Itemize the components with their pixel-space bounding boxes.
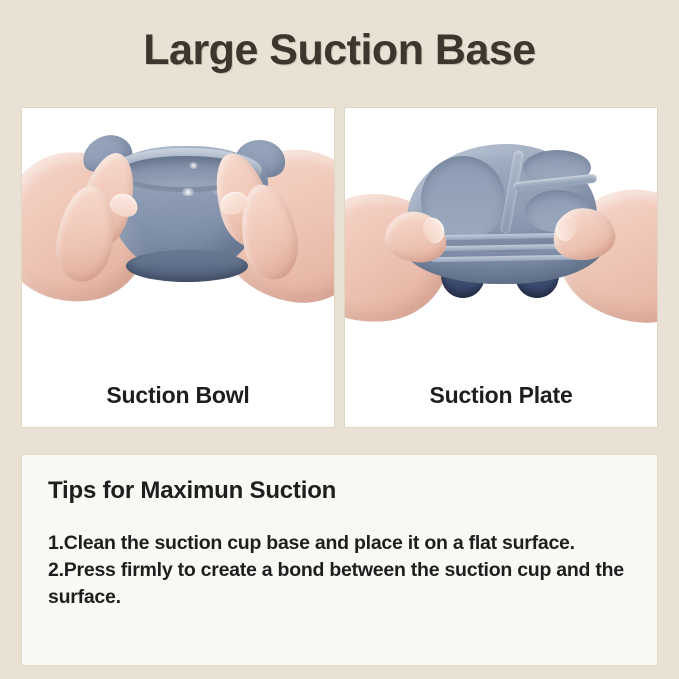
card-caption-suction-bowl: Suction Bowl xyxy=(22,363,334,427)
bowl-highlight xyxy=(188,162,199,169)
suction-bowl-photo xyxy=(22,108,334,363)
product-cards-row: Suction Bowl xyxy=(22,108,657,427)
suction-plate-illustration xyxy=(345,108,657,363)
bowl-highlight xyxy=(180,188,196,196)
suction-bowl-illustration xyxy=(22,108,334,363)
tips-item: 1.Clean the suction cup base and place i… xyxy=(48,530,631,557)
suction-plate-photo xyxy=(345,108,657,363)
tips-item: 2.Press firmly to create a bond between … xyxy=(48,557,631,611)
tips-heading: Tips for Maximun Suction xyxy=(48,477,631,506)
product-card-suction-bowl: Suction Bowl xyxy=(22,108,334,427)
bowl-suction-base xyxy=(126,250,248,282)
product-card-suction-plate: Suction Plate xyxy=(345,108,657,427)
tips-panel: Tips for Maximun Suction 1.Clean the suc… xyxy=(22,455,657,665)
page-title: Large Suction Base xyxy=(0,26,679,74)
card-caption-suction-plate: Suction Plate xyxy=(345,363,657,427)
